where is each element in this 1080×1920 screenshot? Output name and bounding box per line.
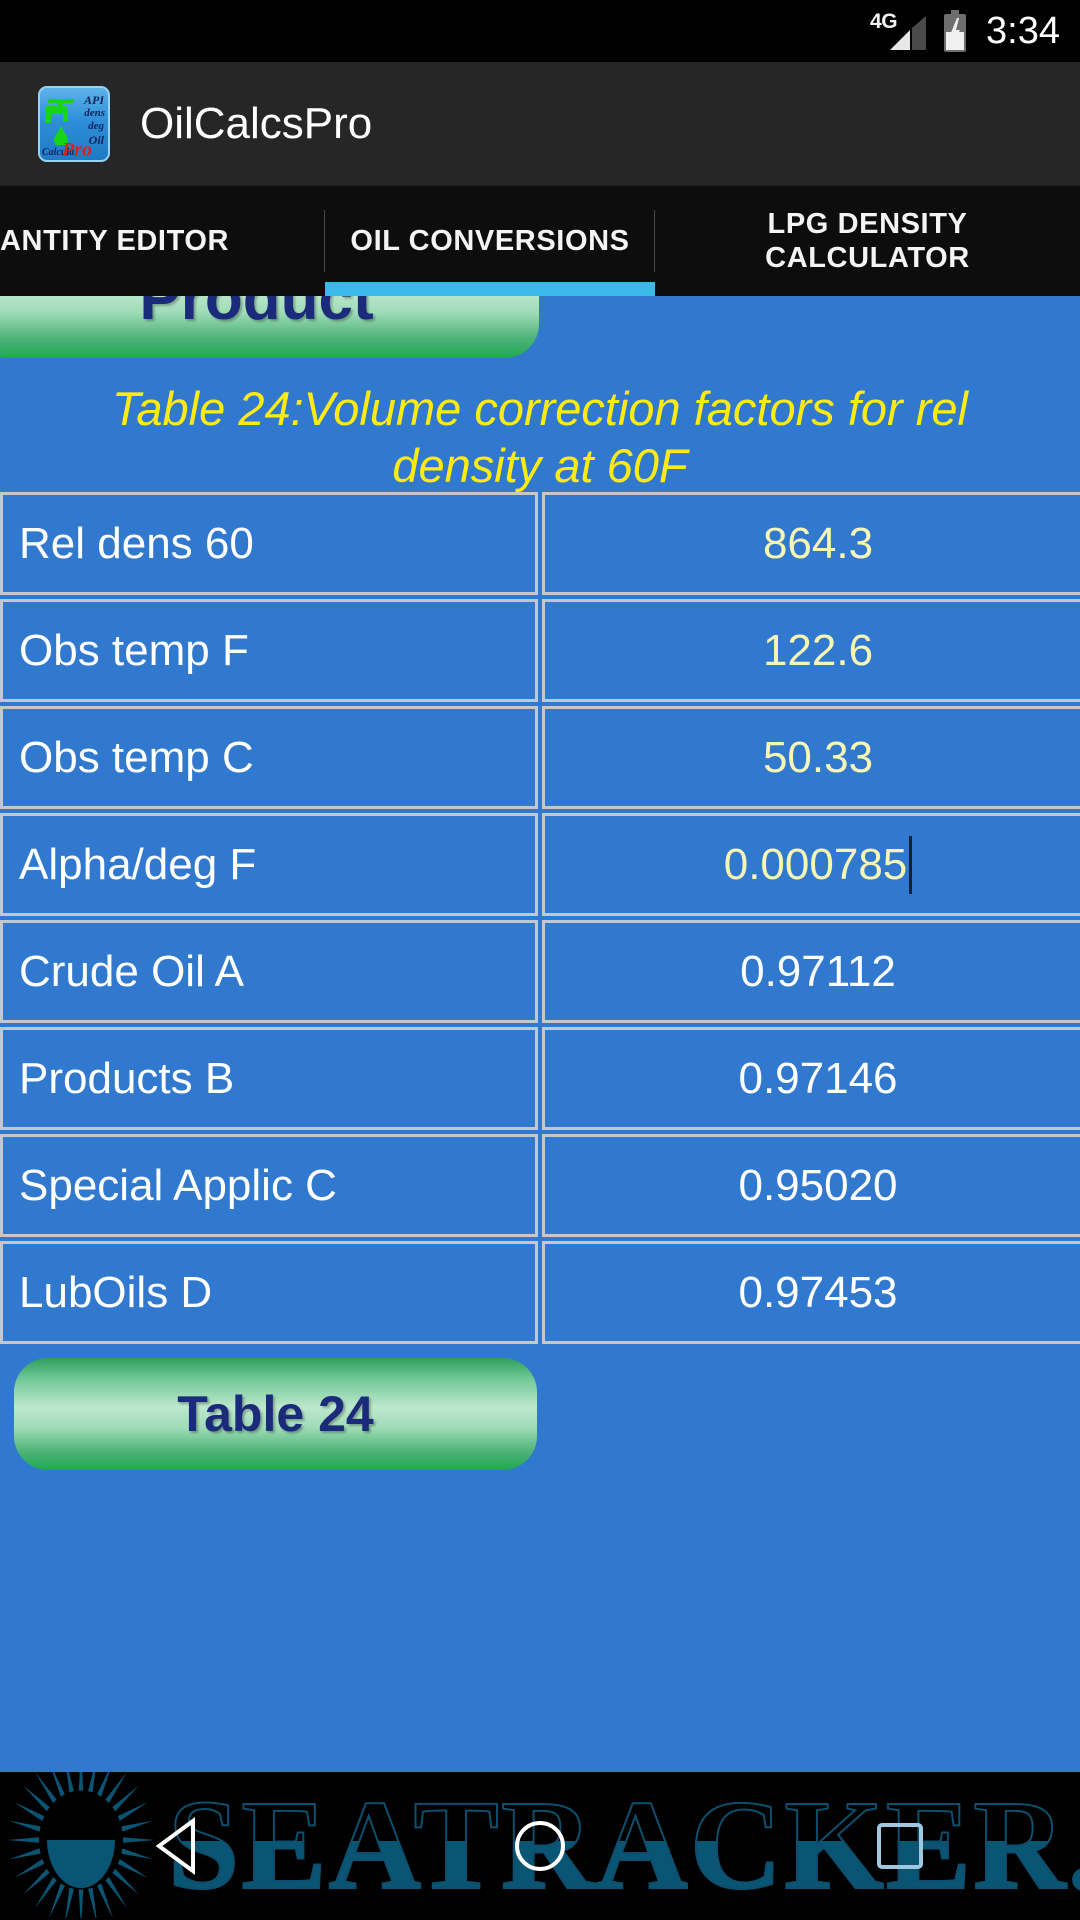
row-label: Products B bbox=[19, 1054, 234, 1104]
table-row: LubOils D0.97453 bbox=[0, 1241, 1080, 1344]
signal-triangle-icon bbox=[888, 16, 928, 50]
table-row: Alpha/deg F0.000785 bbox=[0, 813, 1080, 916]
back-triangle-icon bbox=[153, 1817, 207, 1875]
product-button[interactable]: Product bbox=[0, 296, 539, 358]
tab-oil-conversions[interactable]: OIL CONVERSIONS bbox=[325, 186, 655, 296]
app-icon-text-api: API bbox=[84, 94, 104, 106]
row-label-cell: Rel dens 60 bbox=[0, 492, 538, 595]
app-icon-text-pro: Pro bbox=[62, 140, 92, 160]
row-label-cell: Alpha/deg F bbox=[0, 813, 538, 916]
row-value-cell[interactable]: 0.97146 bbox=[542, 1027, 1080, 1130]
product-button-label: Product bbox=[139, 296, 373, 334]
tab-label: ANTITY EDITOR bbox=[0, 224, 229, 258]
table-24-button[interactable]: Table 24 bbox=[14, 1358, 537, 1470]
phone-screen: 4G 3:34 bbox=[0, 0, 1080, 1920]
row-label-cell: Products B bbox=[0, 1027, 538, 1130]
row-value: 0.95020 bbox=[738, 1161, 897, 1211]
row-value: 0.97112 bbox=[740, 947, 896, 997]
row-label-cell: Crude Oil A bbox=[0, 920, 538, 1023]
table-row: Products B0.97146 bbox=[0, 1027, 1080, 1130]
row-value-cell[interactable]: 864.3 bbox=[542, 492, 1080, 595]
table-title: Table 24:Volume correction factors for r… bbox=[0, 380, 1080, 495]
status-bar-right: 4G 3:34 bbox=[870, 10, 1060, 53]
row-value: 864.3 bbox=[763, 519, 873, 569]
table-row: Crude Oil A0.97112 bbox=[0, 920, 1080, 1023]
row-value: 0.000785 bbox=[724, 840, 908, 890]
row-label-cell: Obs temp C bbox=[0, 706, 538, 809]
correction-factor-table: Rel dens 60864.3Obs temp F122.6Obs temp … bbox=[0, 492, 1080, 1348]
table-row: Special Applic C0.95020 bbox=[0, 1134, 1080, 1237]
home-circle-icon bbox=[513, 1819, 567, 1873]
row-label: Obs temp C bbox=[19, 733, 254, 783]
row-value-cell[interactable]: 50.33 bbox=[542, 706, 1080, 809]
recents-button[interactable] bbox=[845, 1791, 955, 1901]
row-value: 50.33 bbox=[763, 733, 873, 783]
table-row: Obs temp C50.33 bbox=[0, 706, 1080, 809]
home-button[interactable] bbox=[485, 1791, 595, 1901]
table-row: Obs temp F122.6 bbox=[0, 599, 1080, 702]
row-label: Obs temp F bbox=[19, 626, 249, 676]
row-value-cell[interactable]: 0.97453 bbox=[542, 1241, 1080, 1344]
row-label: Alpha/deg F bbox=[19, 840, 256, 890]
app-title: OilCalcsPro bbox=[140, 99, 372, 149]
table-title-line1: Table 24:Volume correction factors for r… bbox=[112, 382, 968, 435]
table-row: Rel dens 60864.3 bbox=[0, 492, 1080, 595]
app-icon-text-dens: dens bbox=[84, 108, 105, 119]
row-value-cell[interactable]: 0.95020 bbox=[542, 1134, 1080, 1237]
oilcalcspro-app-icon: API dens deg Oil Calcula Pro bbox=[38, 86, 110, 162]
status-bar: 4G 3:34 bbox=[0, 0, 1080, 62]
status-bar-clock: 3:34 bbox=[986, 10, 1060, 53]
table-24-button-label: Table 24 bbox=[177, 1385, 373, 1443]
faucet-icon bbox=[44, 98, 78, 124]
tab-label: LPG DENSITY CALCULATOR bbox=[663, 207, 1072, 275]
tab-lpg-density-calculator[interactable]: LPG DENSITY CALCULATOR bbox=[655, 186, 1080, 296]
battery-charging-icon bbox=[942, 10, 968, 52]
text-cursor bbox=[909, 836, 912, 894]
row-value: 122.6 bbox=[763, 626, 873, 676]
row-label: Crude Oil A bbox=[19, 947, 244, 997]
action-bar: API dens deg Oil Calcula Pro OilCalcsPro bbox=[0, 62, 1080, 186]
row-value-cell[interactable]: 0.97112 bbox=[542, 920, 1080, 1023]
row-label-cell: Obs temp F bbox=[0, 599, 538, 702]
row-value: 0.97146 bbox=[738, 1054, 897, 1104]
active-tab-indicator bbox=[325, 282, 655, 296]
row-label: LubOils D bbox=[19, 1268, 212, 1318]
main-content: Product Table 24:Volume correction facto… bbox=[0, 296, 1080, 1772]
row-value: 0.97453 bbox=[738, 1268, 897, 1318]
tab-bar[interactable]: ANTITY EDITOR OIL CONVERSIONS LPG DENSIT… bbox=[0, 186, 1080, 296]
recents-square-icon bbox=[875, 1821, 925, 1871]
signal-bars-icon: 4G bbox=[870, 10, 928, 52]
navigation-bar[interactable]: SEATRACKER.RU bbox=[0, 1772, 1080, 1920]
tab-label: OIL CONVERSIONS bbox=[350, 224, 629, 258]
row-label-cell: Special Applic C bbox=[0, 1134, 538, 1237]
row-value-cell[interactable]: 0.000785 bbox=[542, 813, 1080, 916]
row-value-cell[interactable]: 122.6 bbox=[542, 599, 1080, 702]
row-label-cell: LubOils D bbox=[0, 1241, 538, 1344]
row-label: Special Applic C bbox=[19, 1161, 337, 1211]
app-icon-text-deg: deg bbox=[88, 121, 104, 132]
row-label: Rel dens 60 bbox=[19, 519, 254, 569]
table-title-line2: density at 60F bbox=[0, 437, 1080, 494]
tab-quantity-editor[interactable]: ANTITY EDITOR bbox=[0, 186, 325, 296]
back-button[interactable] bbox=[125, 1791, 235, 1901]
